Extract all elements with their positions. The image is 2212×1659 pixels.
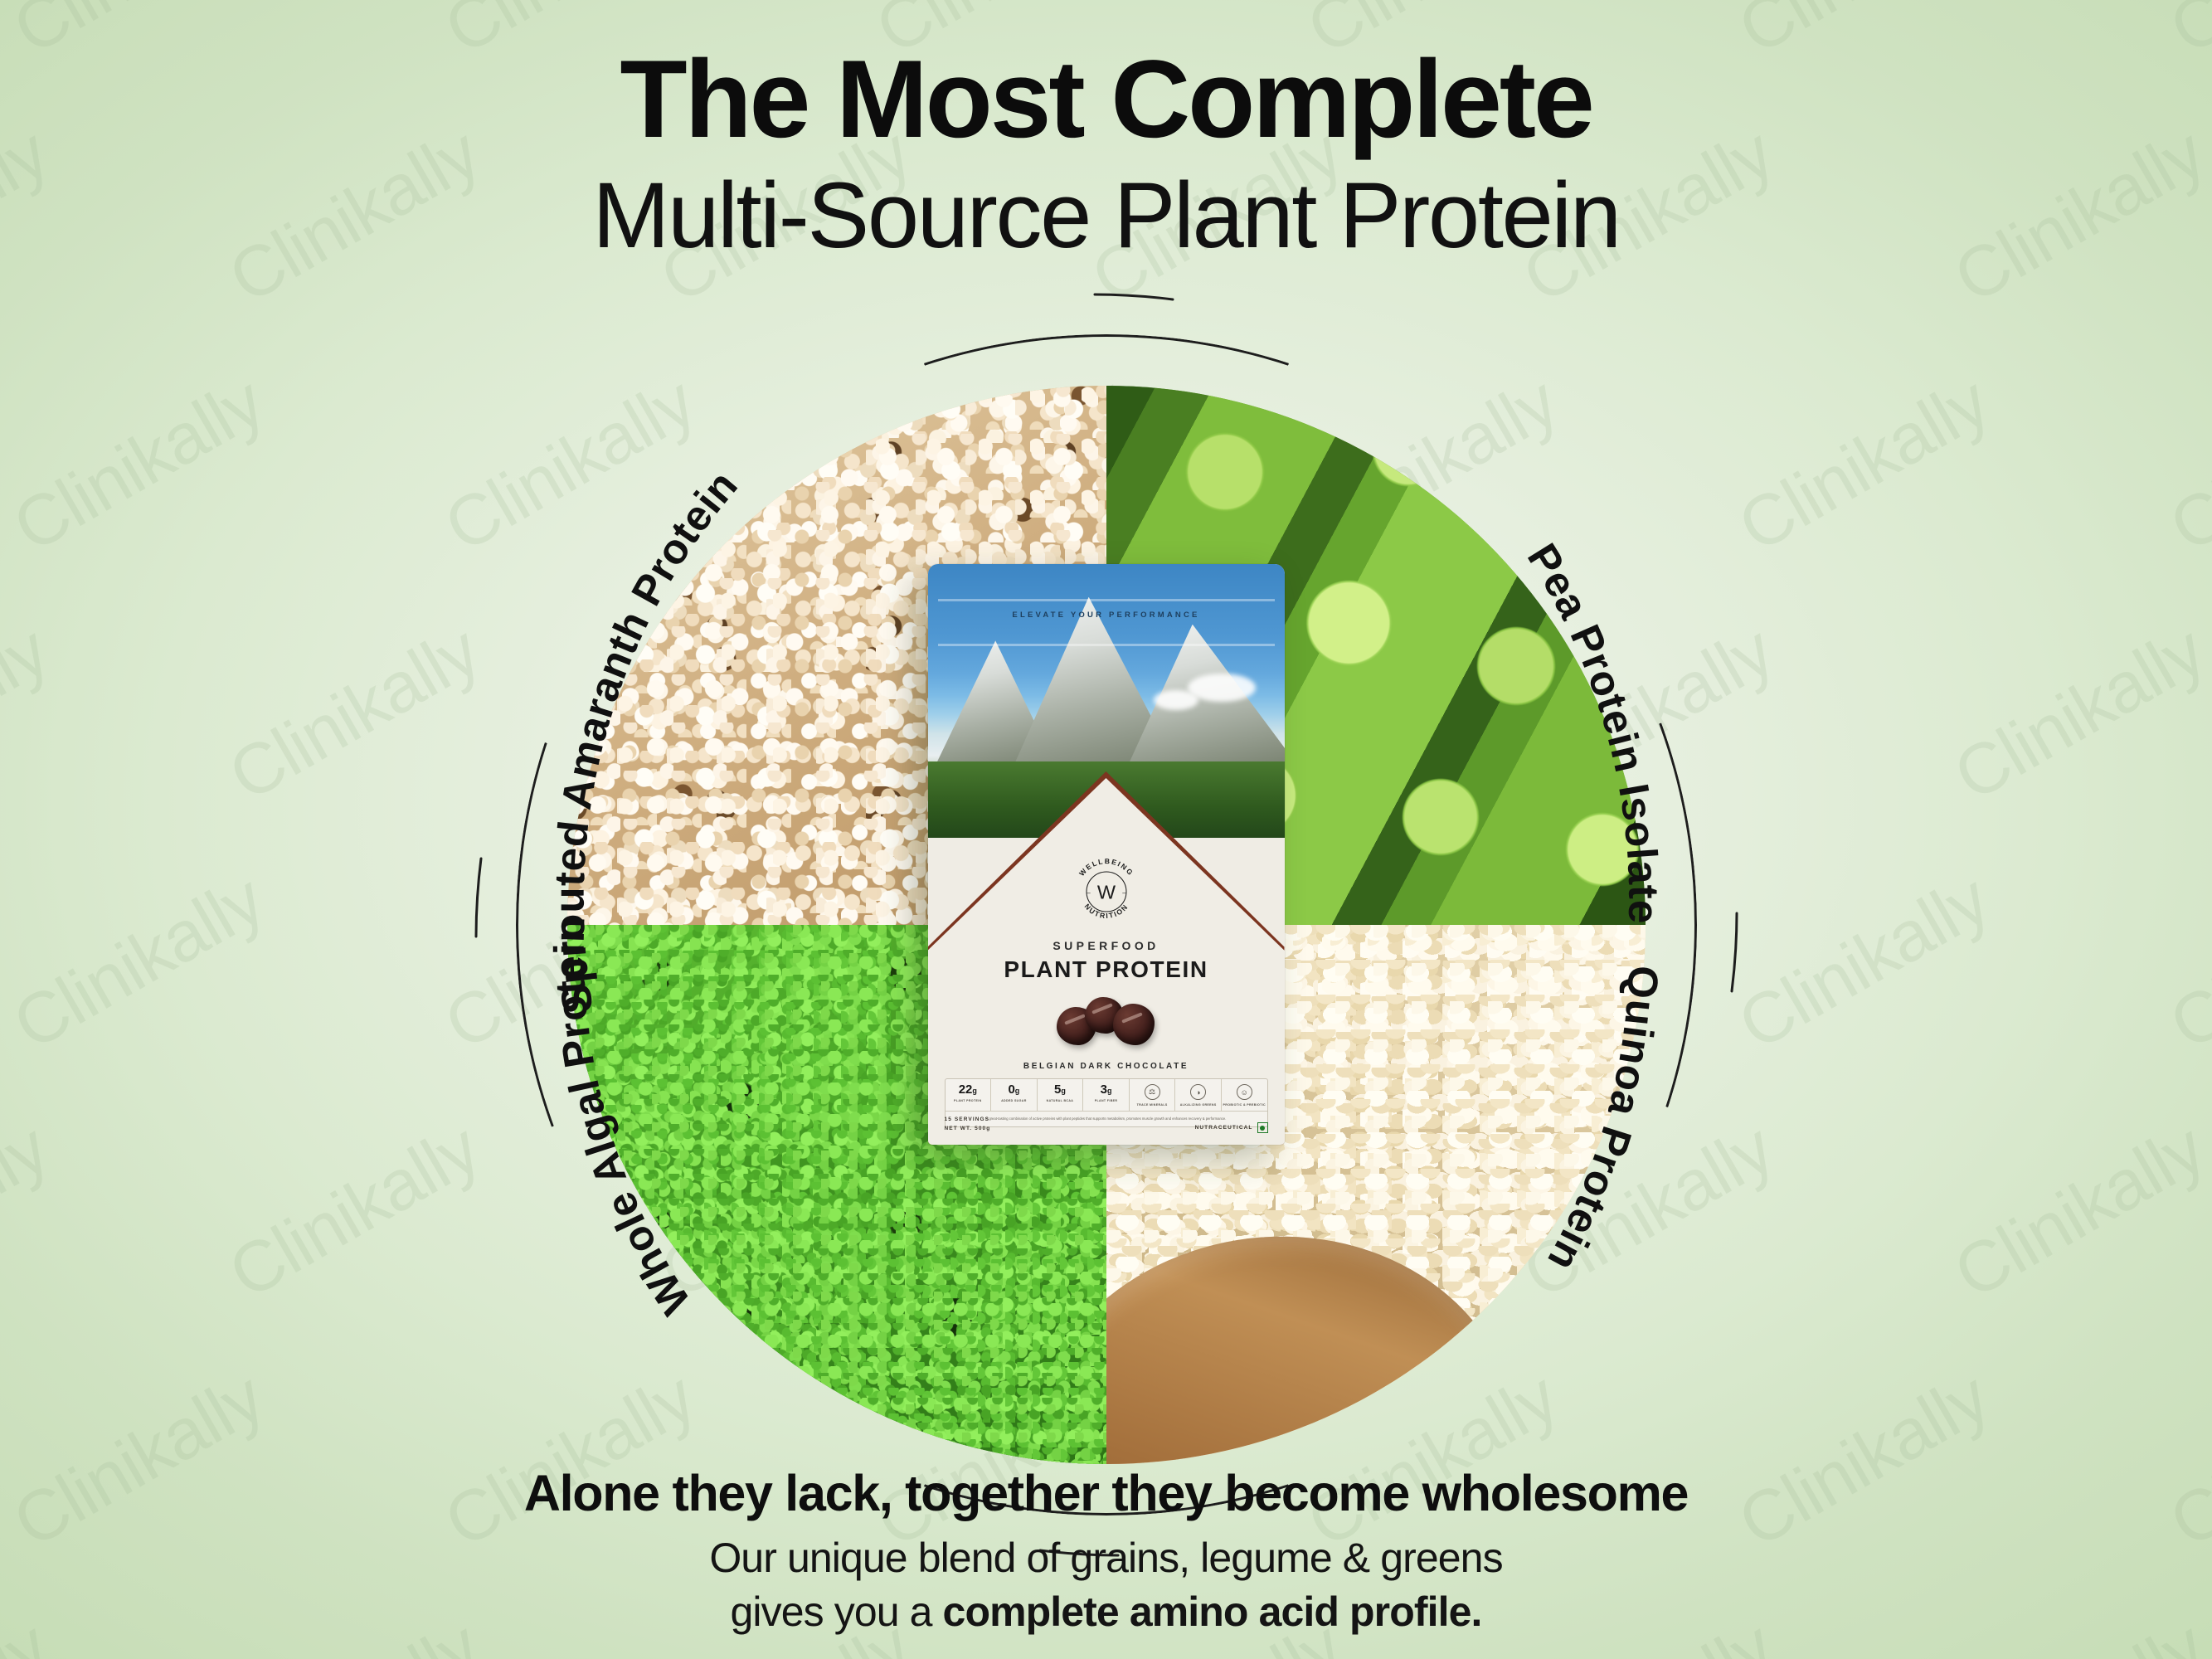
watermark-text: Clinikally (0, 361, 278, 568)
product-flavor: BELGIAN DARK CHOCOLATE (928, 1062, 1285, 1071)
footer-line-2: gives you a complete amino acid profile. (0, 1586, 2212, 1638)
badge-text-top: WELLBEING (1077, 857, 1135, 878)
pouch-zipper (938, 599, 1275, 601)
badge-dash-left: – (1087, 888, 1091, 897)
label-algae: Whole Algal Protein (545, 915, 699, 1322)
benefit-badge: ☺ PROBIOTIC & PREBIOTIC (1222, 1079, 1267, 1111)
minerals-icon: ⚖ (1145, 1084, 1160, 1100)
watermark-text: Clinikally (2156, 859, 2212, 1066)
watermark-text: Clinikally (1941, 610, 2212, 817)
nutrition-stat: 22g PLANT PROTEIN (946, 1079, 992, 1111)
product-eyebrow: SUPERFOOD (928, 939, 1285, 952)
watermark-text: Clinikally (0, 610, 62, 817)
pouch-footer: 15 SERVINGS NET WT. 500g NUTRACEUTICAL (945, 1116, 1268, 1133)
page-title-primary: The Most Complete (0, 43, 2212, 157)
benefit-badge: ◑ ALKALIZING GREENS (1175, 1079, 1222, 1111)
vegetarian-dot (1260, 1126, 1265, 1131)
pouch-titles: SUPERFOOD PLANT PROTEIN (928, 939, 1285, 983)
footer-line-1: Our unique blend of grains, legume & gre… (0, 1532, 2212, 1584)
page-header: The Most Complete Multi-Source Plant Pro… (0, 43, 2212, 267)
product-pouch[interactable]: ELEVATE YOUR PERFORMANCE WELLBEING NUTRI… (928, 564, 1285, 1145)
nutrition-stat: 5g NATURAL BCAA (1038, 1079, 1084, 1111)
footer-line-2-emphasis: complete amino acid profile. (943, 1588, 1482, 1635)
watermark-text: Clinikally (0, 1107, 62, 1315)
page-title-secondary: Multi-Source Plant Protein (0, 163, 2212, 267)
footer-headline: Alone they lack, together they become wh… (0, 1464, 2212, 1522)
cloud-icon (1154, 690, 1198, 710)
pouch-zipper (938, 644, 1275, 646)
watermark-text: Clinikally (1941, 1107, 2212, 1315)
benefit-badge: ⚖ TRACE MINERALS (1130, 1079, 1176, 1111)
label-pea: Pea Protein Isolate (1518, 535, 1667, 924)
net-weight: NET WT. 500g (945, 1125, 991, 1133)
servings-count: 15 SERVINGS (945, 1116, 991, 1124)
label-quinoa: Quinoa Protein (1538, 965, 1666, 1279)
vegetarian-mark-icon (1257, 1122, 1268, 1133)
watermark-text: Clinikally (2156, 361, 2212, 568)
pouch-tagline: ELEVATE YOUR PERFORMANCE (928, 611, 1285, 620)
truffle-icon (1113, 1004, 1155, 1045)
badge-dash-right: – (1122, 888, 1126, 897)
nutrition-stat: 3g PLANT FIBER (1083, 1079, 1130, 1111)
page-footer: Alone they lack, together they become wh… (0, 1464, 2212, 1637)
chocolate-truffles-image (1055, 994, 1158, 1052)
wellbeing-nutrition-logo: WELLBEING NUTRITION W – – (1067, 853, 1145, 931)
servings-info: 15 SERVINGS NET WT. 500g (945, 1116, 991, 1133)
watermark-text: Clinikally (0, 859, 278, 1066)
nutrition-stat: 0g ADDED SUGAR (991, 1079, 1038, 1111)
footer-line-2-prefix: gives you a (731, 1588, 943, 1635)
badge-monogram: W (1096, 881, 1116, 902)
probiotic-icon: ☺ (1237, 1084, 1252, 1100)
greens-icon: ◑ (1190, 1084, 1206, 1100)
badge-text-bottom: NUTRITION (1082, 902, 1130, 921)
product-name: PLANT PROTEIN (928, 956, 1285, 983)
certification-label: NUTRACEUTICAL (1195, 1125, 1253, 1131)
